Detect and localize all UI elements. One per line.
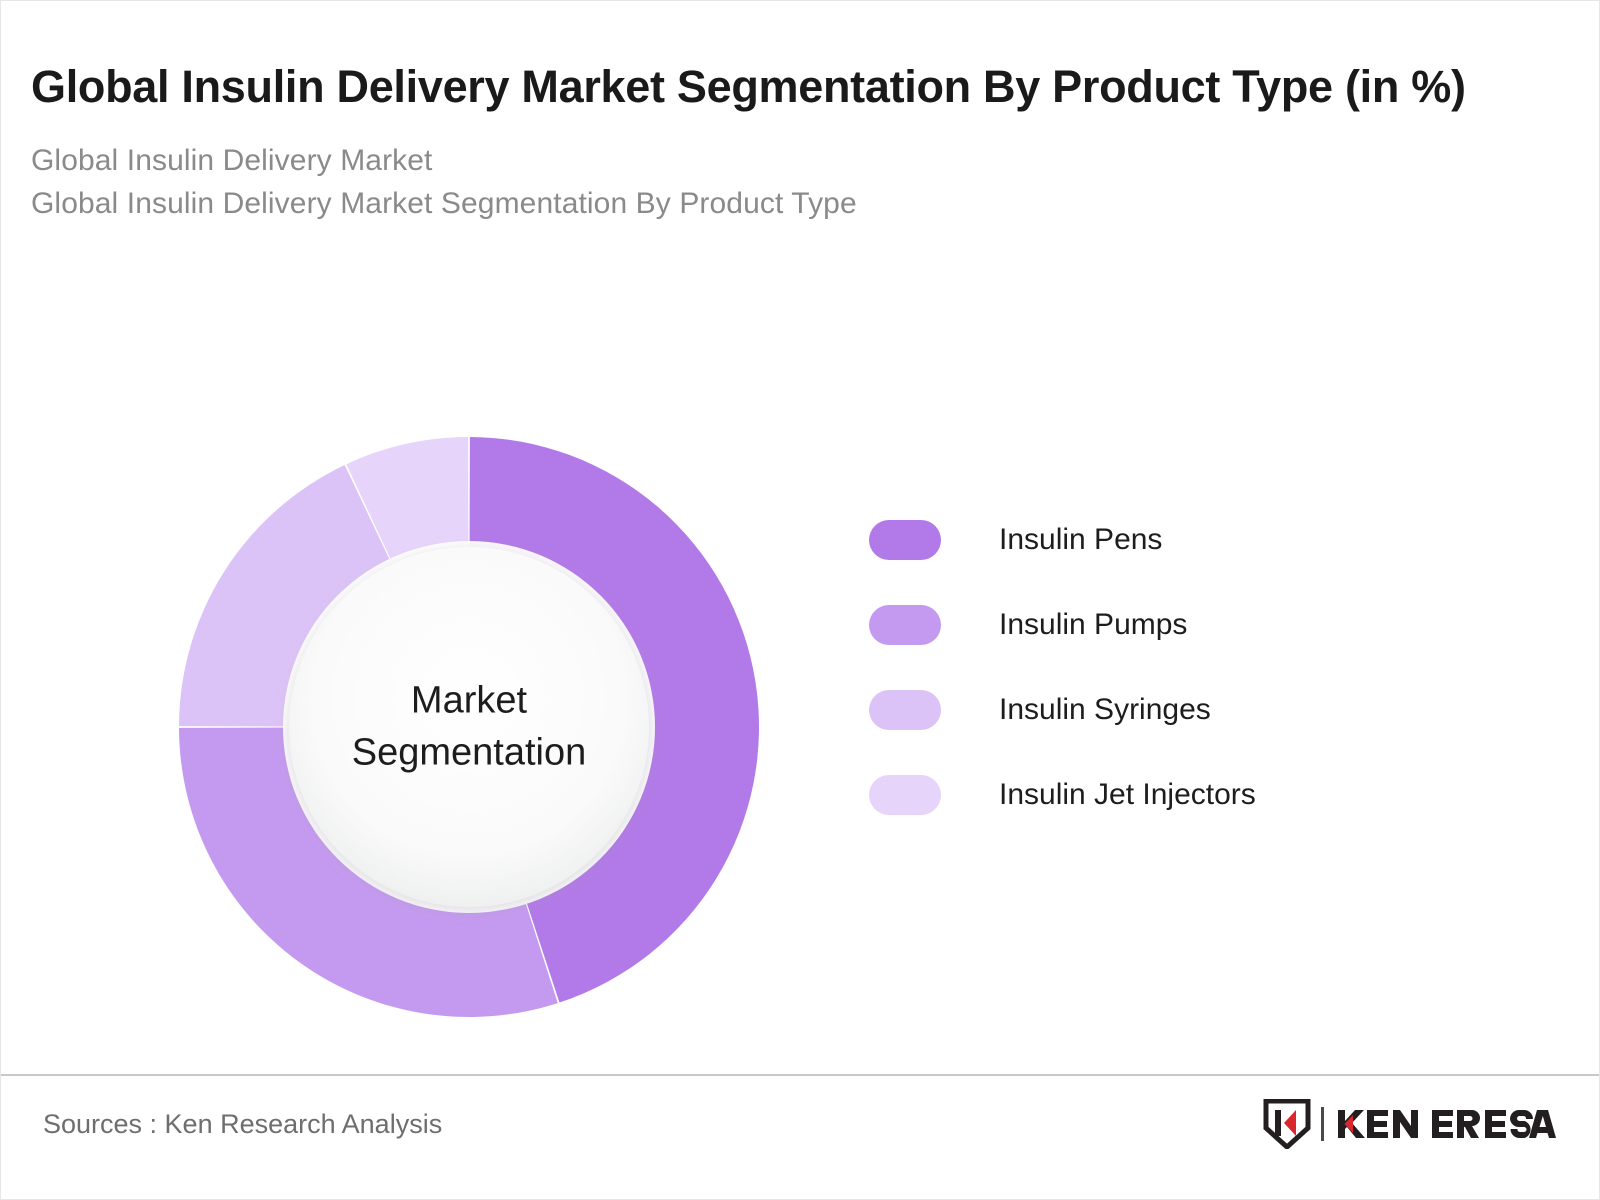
legend-item-label: Insulin Pumps <box>999 608 1187 642</box>
brand-divider <box>1321 1107 1324 1141</box>
legend-swatch-icon <box>869 520 941 560</box>
slide-canvas: Global Insulin Delivery Market Segmentat… <box>0 0 1600 1200</box>
legend-swatch-icon <box>869 775 941 815</box>
page-title: Global Insulin Delivery Market Segmentat… <box>31 57 1531 116</box>
legend-item-label: Insulin Jet Injectors <box>999 778 1256 812</box>
ken-research-shield-icon <box>1263 1099 1311 1149</box>
chart-subtitle-secondary: Global Insulin Delivery Market Segmentat… <box>31 183 1571 226</box>
chart-area: Market Segmentation Insulin PensInsulin … <box>1 379 1600 1069</box>
chart-legend: Insulin PensInsulin PumpsInsulin Syringe… <box>869 497 1489 837</box>
chart-header: Global Insulin Delivery Market Segmentat… <box>31 57 1571 226</box>
brand-logo <box>1263 1096 1565 1152</box>
sources-text: Sources : Ken Research Analysis <box>43 1109 442 1140</box>
legend-item[interactable]: Insulin Syringes <box>869 667 1489 752</box>
chart-subtitle-primary: Global Insulin Delivery Market <box>31 140 1571 183</box>
legend-swatch-icon <box>869 690 941 730</box>
legend-item-label: Insulin Pens <box>999 523 1162 557</box>
ken-research-wordmark-icon <box>1333 1105 1565 1143</box>
legend-item[interactable]: Insulin Pumps <box>869 582 1489 667</box>
subtitle-block: Global Insulin Delivery Market Global In… <box>31 140 1571 225</box>
legend-swatch-icon <box>869 605 941 645</box>
legend-item[interactable]: Insulin Pens <box>869 497 1489 582</box>
donut-svg <box>174 432 764 1022</box>
legend-item[interactable]: Insulin Jet Injectors <box>869 752 1489 837</box>
brand-wordmark-group <box>1321 1105 1565 1143</box>
legend-item-label: Insulin Syringes <box>999 693 1211 727</box>
donut-hole <box>289 547 649 907</box>
donut-chart: Market Segmentation <box>174 432 764 1022</box>
chart-footer: Sources : Ken Research Analysis <box>1 1076 1600 1200</box>
